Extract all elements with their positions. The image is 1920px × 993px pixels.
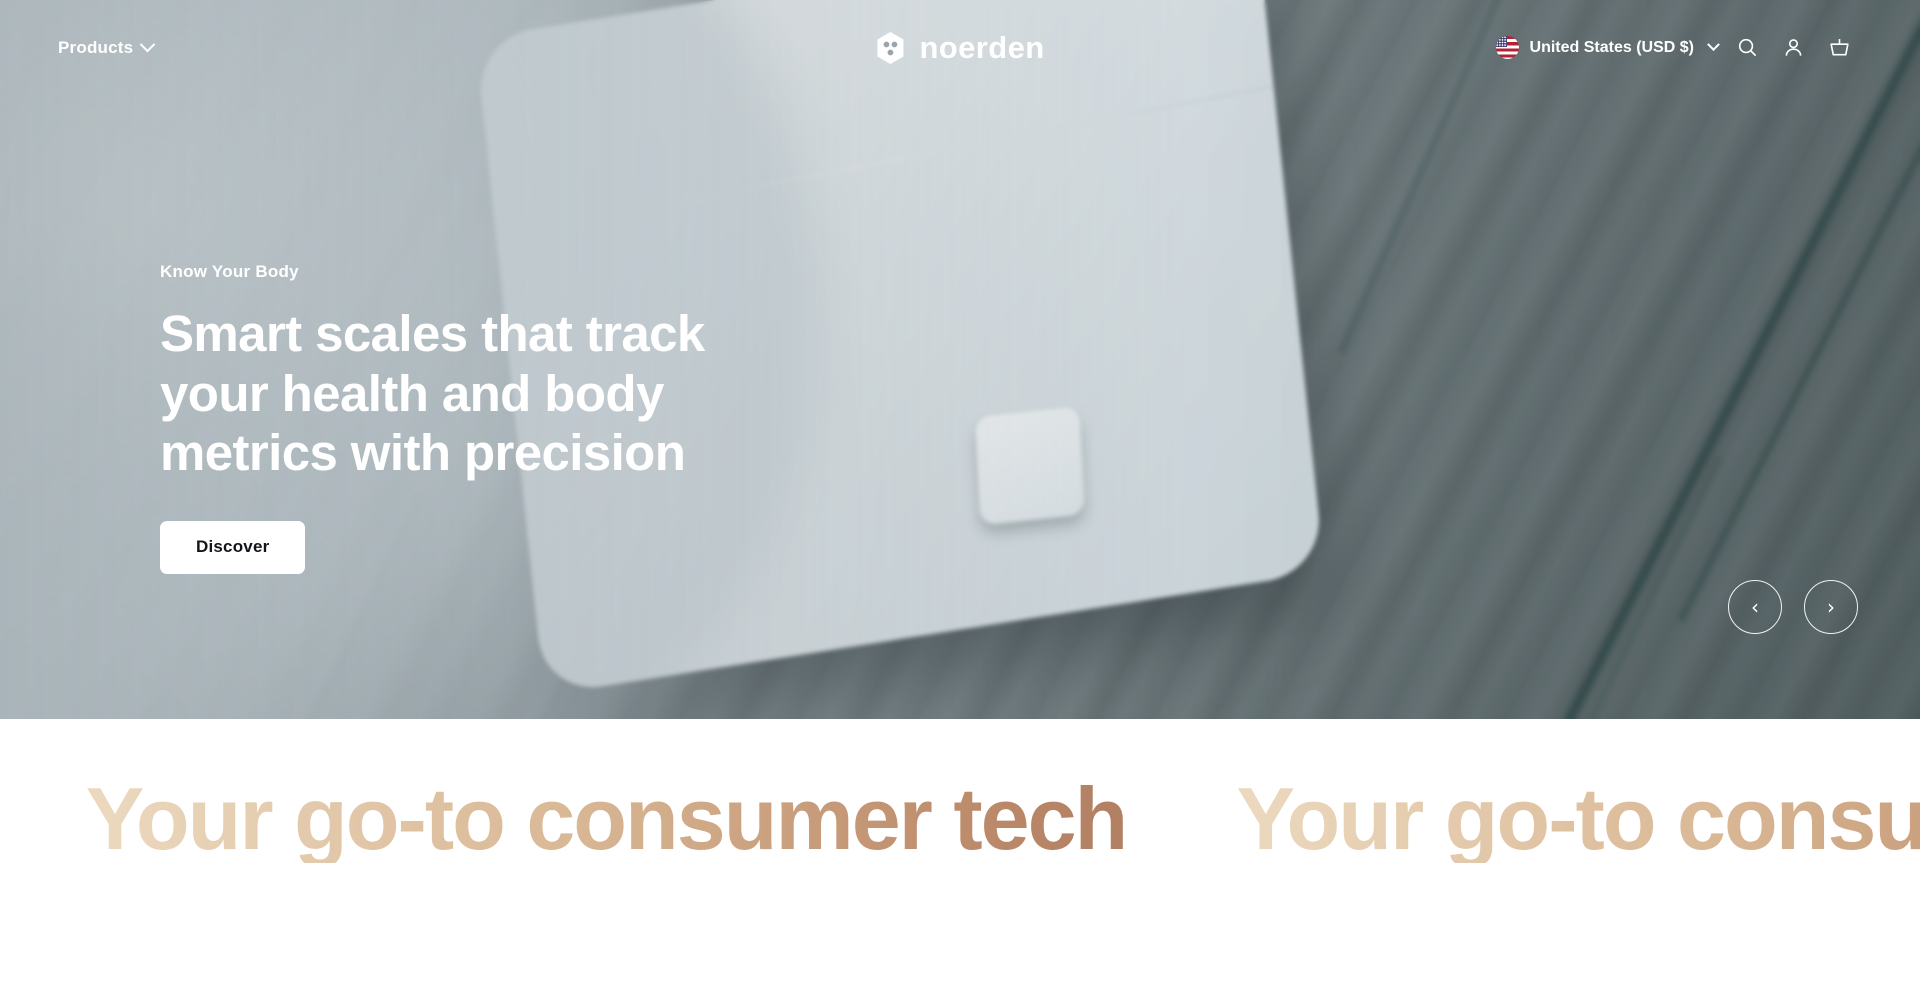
marquee-item: Your go-to consumer tech: [1236, 775, 1920, 863]
basket-icon: [1828, 36, 1851, 59]
site-header: Products noerden United States (USD $): [0, 0, 1920, 95]
nav-item-label: Products: [58, 38, 133, 58]
marquee-item: Your go-to consumer tech: [86, 775, 1237, 863]
nav-item-products[interactable]: Products: [58, 38, 153, 58]
locale-label: United States (USD $): [1530, 39, 1694, 57]
noerden-hex-icon: [875, 31, 905, 65]
hero-eyebrow: Know Your Body: [160, 262, 850, 282]
hero-title: Smart scales that track your health and …: [160, 304, 740, 483]
locale-selector[interactable]: United States (USD $): [1496, 36, 1724, 59]
carousel-next-button[interactable]: ›: [1804, 580, 1858, 634]
brand-logo-link[interactable]: noerden: [875, 30, 1044, 66]
discover-button[interactable]: Discover: [160, 521, 305, 574]
cart-button[interactable]: [1816, 25, 1862, 71]
marquee-section: Your go-to consumer techYour go-to consu…: [0, 719, 1920, 993]
search-button[interactable]: [1724, 25, 1770, 71]
chevron-down-icon: [1707, 38, 1720, 51]
hero-content: Know Your Body Smart scales that track y…: [160, 262, 850, 574]
us-flag-icon: [1496, 36, 1519, 59]
marquee-item: Your go-to consumer tech: [0, 775, 86, 863]
carousel-controls: ‹ ›: [1728, 580, 1858, 634]
marquee-track: Your go-to consumer techYour go-to consu…: [0, 775, 1920, 863]
chevron-down-icon: [140, 37, 156, 53]
chevron-right-icon: ›: [1827, 597, 1835, 617]
account-button[interactable]: [1770, 25, 1816, 71]
brand-name: noerden: [919, 30, 1044, 66]
primary-navigation: Products: [58, 38, 1496, 58]
header-actions: United States (USD $): [1496, 25, 1862, 71]
carousel-prev-button[interactable]: ‹: [1728, 580, 1782, 634]
chevron-left-icon: ‹: [1751, 597, 1759, 617]
search-icon: [1736, 36, 1759, 59]
user-icon: [1782, 36, 1805, 59]
hero-section: noerden Products noerden: [0, 0, 1920, 719]
